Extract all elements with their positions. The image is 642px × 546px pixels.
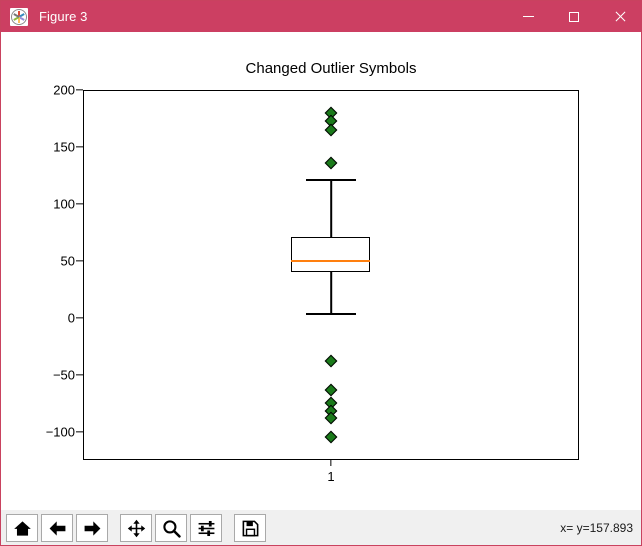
right-arrow-icon xyxy=(83,519,102,538)
save-button[interactable] xyxy=(234,514,266,542)
move-icon xyxy=(127,519,146,538)
home-icon xyxy=(13,519,32,538)
whisker-cap-upper xyxy=(306,179,356,181)
ytick-label: 200 xyxy=(53,83,75,98)
minimize-button[interactable] xyxy=(505,1,551,32)
toolbar-separator xyxy=(108,514,117,542)
maximize-button[interactable] xyxy=(551,1,597,32)
home-button[interactable] xyxy=(6,514,38,542)
back-button[interactable] xyxy=(41,514,73,542)
chart-title: Changed Outlier Symbols xyxy=(83,60,579,77)
window-controls xyxy=(505,1,642,32)
figure-window: Figure 3 Changed Outlier Symbols 200 150… xyxy=(0,0,642,546)
minimize-icon xyxy=(523,16,534,17)
ytick-mark xyxy=(76,89,83,90)
configure-subplots-button[interactable] xyxy=(190,514,222,542)
whisker-lower xyxy=(330,272,332,313)
floppy-disk-icon xyxy=(241,519,260,538)
whisker-upper xyxy=(330,179,332,237)
ytick-label: 100 xyxy=(53,197,75,212)
close-button[interactable] xyxy=(597,1,642,32)
status-coordinates: x= y=157.893 xyxy=(560,521,633,535)
window-title: Figure 3 xyxy=(39,9,88,24)
figure-toolbar: x= y=157.893 xyxy=(1,510,641,546)
whisker-cap-lower xyxy=(306,313,356,315)
figure-canvas[interactable]: Changed Outlier Symbols 200 150 100 50 0… xyxy=(1,32,641,510)
ytick-mark xyxy=(76,203,83,204)
median-line xyxy=(291,260,370,262)
ytick-mark xyxy=(76,374,83,375)
sliders-icon xyxy=(197,519,216,538)
xtick-mark xyxy=(330,460,331,466)
toolbar-separator xyxy=(222,514,231,542)
ytick-label: 0 xyxy=(68,311,75,326)
forward-button[interactable] xyxy=(76,514,108,542)
pan-button[interactable] xyxy=(120,514,152,542)
xtick-label: 1 xyxy=(327,469,334,484)
ytick-mark xyxy=(76,317,83,318)
zoom-button[interactable] xyxy=(155,514,187,542)
ytick-label: −100 xyxy=(46,425,75,440)
box-iqr xyxy=(291,237,370,272)
ytick-mark xyxy=(76,431,83,432)
ytick-mark xyxy=(76,260,83,261)
ytick-mark xyxy=(76,146,83,147)
ytick-label: −50 xyxy=(53,368,75,383)
ytick-label: 50 xyxy=(61,254,75,269)
maximize-icon xyxy=(569,12,579,22)
ytick-label: 150 xyxy=(53,140,75,155)
magnifier-icon xyxy=(162,519,181,538)
close-icon xyxy=(614,11,626,23)
window-titlebar: Figure 3 xyxy=(1,1,642,32)
matplotlib-icon xyxy=(10,8,28,26)
left-arrow-icon xyxy=(48,519,67,538)
